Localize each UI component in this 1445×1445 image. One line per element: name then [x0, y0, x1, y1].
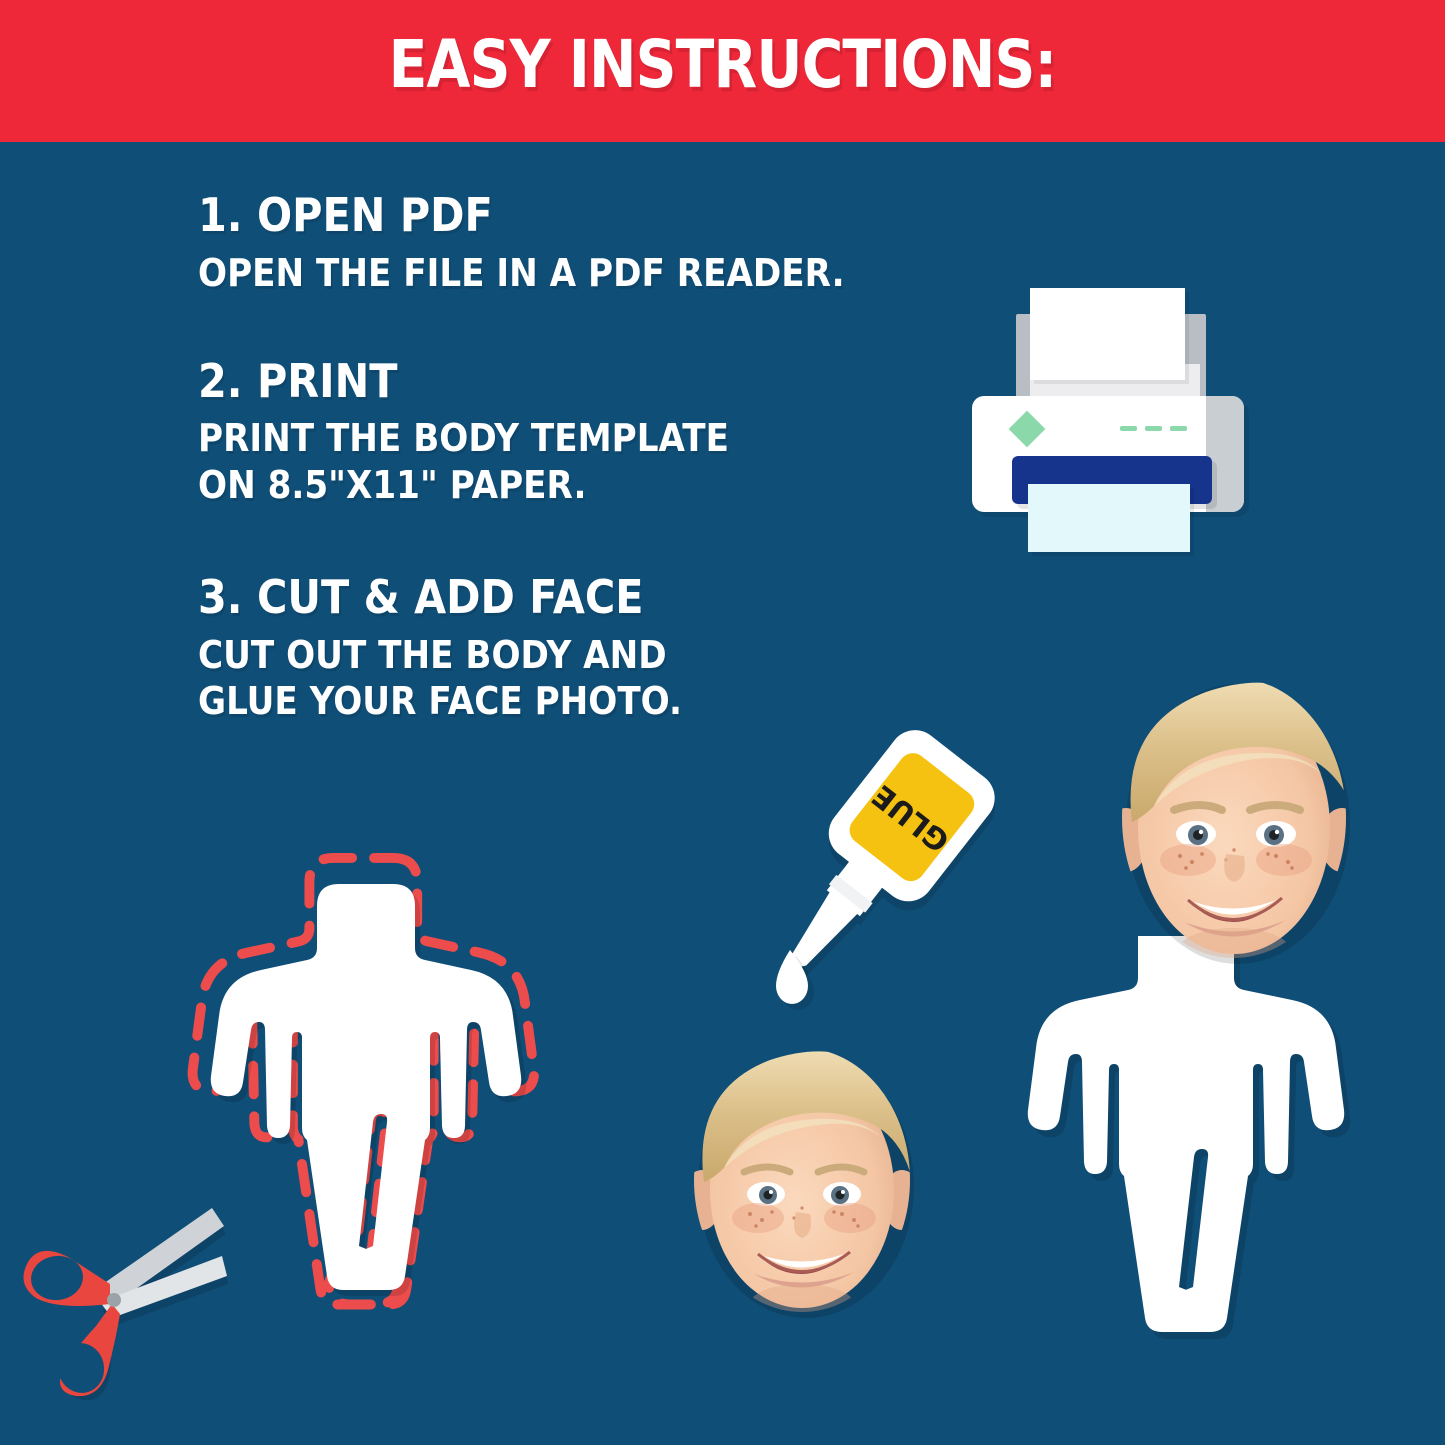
step-2-body: PRINT THE BODY TEMPLATE ON 8.5"X11" PAPE…	[198, 415, 978, 508]
body-template-cutout	[218, 860, 568, 1430]
step-3-line-2: GLUE YOUR FACE PHOTO.	[198, 678, 900, 724]
step-1-heading: 1. OPEN PDF	[198, 190, 900, 242]
printer-dash-3	[1170, 426, 1187, 431]
step-2-heading: 2. PRINT	[198, 356, 900, 408]
page-title: EASY INSTRUCTIONS:	[101, 26, 1344, 103]
instruction-step-2: 2. PRINT PRINT THE BODY TEMPLATE ON 8.5"…	[198, 356, 978, 508]
cutout-face-photo	[662, 1022, 942, 1322]
scissors-pivot-screw-icon	[107, 1293, 121, 1307]
assembled-face-photo	[1104, 683, 1364, 972]
assembled-figure	[1024, 650, 1444, 1440]
header-banner: EASY INSTRUCTIONS:	[0, 0, 1445, 142]
printer-feed-paper	[1030, 288, 1185, 380]
step-3-line-1: CUT OUT THE BODY AND	[198, 632, 900, 678]
instruction-steps-list: 1. OPEN PDF OPEN THE FILE IN A PDF READE…	[198, 190, 978, 768]
printer-dash-2	[1145, 426, 1162, 431]
instruction-step-1: 1. OPEN PDF OPEN THE FILE IN A PDF READE…	[198, 190, 978, 296]
instructions-poster: EASY INSTRUCTIONS: 1. OPEN PDF OPEN THE …	[0, 0, 1445, 1445]
printer-output-paper	[1028, 484, 1190, 552]
instruction-step-3: 3. CUT & ADD FACE CUT OUT THE BODY AND G…	[198, 572, 978, 724]
step-2-line-2: ON 8.5"X11" PAPER.	[198, 462, 900, 508]
glue-bottle-icon: GLUE	[770, 722, 1020, 1022]
printer-dash-1	[1120, 426, 1137, 431]
step-3-heading: 3. CUT & ADD FACE	[198, 572, 900, 624]
step-1-body: OPEN THE FILE IN A PDF READER.	[198, 250, 978, 296]
step-2-line-1: PRINT THE BODY TEMPLATE	[198, 415, 900, 461]
step-3-body: CUT OUT THE BODY AND GLUE YOUR FACE PHOT…	[198, 632, 978, 725]
printer-icon	[968, 268, 1248, 558]
scissors-icon	[14, 1192, 244, 1402]
step-1-line-1: OPEN THE FILE IN A PDF READER.	[198, 250, 900, 296]
cutout-face-image	[682, 1051, 922, 1324]
printer-indicator-dashes-icon	[1120, 426, 1188, 431]
